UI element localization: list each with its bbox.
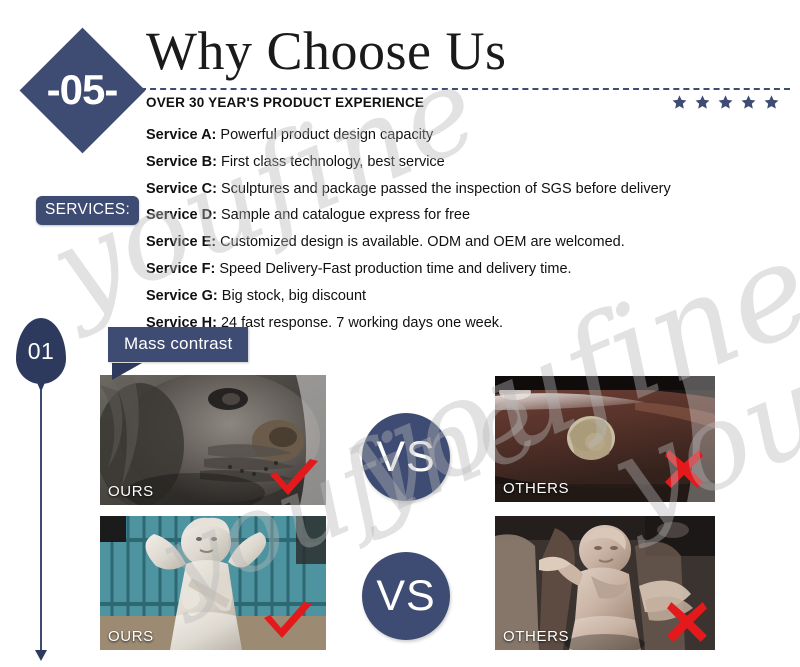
header-divider bbox=[140, 88, 790, 90]
service-item: Service C: Sculptures and package passed… bbox=[146, 176, 786, 203]
service-item: Service A: Powerful product design capac… bbox=[146, 122, 786, 149]
photo-label-others: OTHERS bbox=[503, 480, 569, 497]
page-subtitle: OVER 30 YEAR'S PRODUCT EXPERIENCE bbox=[146, 95, 424, 110]
service-item: Service B: First class technology, best … bbox=[146, 149, 786, 176]
service-text: Sculptures and package passed the inspec… bbox=[221, 181, 671, 197]
star-icon bbox=[717, 94, 734, 111]
star-icon bbox=[740, 94, 757, 111]
comparison-photo-ours: OURS bbox=[100, 516, 326, 650]
check-mark-icon bbox=[260, 602, 316, 646]
vs-badge: VS bbox=[362, 552, 450, 640]
service-text: Customized design is available. ODM and … bbox=[220, 234, 625, 250]
service-key: Service A: bbox=[146, 127, 216, 143]
service-key: Service F: bbox=[146, 261, 215, 277]
services-badge: SERVICES: bbox=[36, 196, 139, 225]
service-key: Service E: bbox=[146, 234, 216, 250]
service-key: Service C: bbox=[146, 181, 217, 197]
photo-label-ours: OURS bbox=[108, 483, 154, 500]
service-text: Powerful product design capacity bbox=[220, 127, 433, 143]
service-item: Service D: Sample and catalogue express … bbox=[146, 202, 786, 229]
service-key: Service G: bbox=[146, 288, 218, 304]
star-icon bbox=[671, 94, 688, 111]
service-text: Sample and catalogue express for free bbox=[221, 207, 470, 223]
service-key: Service D: bbox=[146, 207, 217, 223]
photo-label-ours: OURS bbox=[108, 628, 154, 645]
cross-mark-icon bbox=[665, 600, 709, 644]
comparison-photo-others: OTHERS bbox=[495, 376, 715, 502]
service-item: Service E: Customized design is availabl… bbox=[146, 229, 786, 256]
comparison-photo-others: OTHERS bbox=[495, 516, 715, 650]
service-key: Service B: bbox=[146, 154, 217, 170]
star-icon bbox=[694, 94, 711, 111]
star-rating bbox=[671, 94, 780, 111]
pin-stem bbox=[40, 390, 42, 652]
section-number-label: -05- bbox=[19, 27, 145, 153]
photo-label-others: OTHERS bbox=[503, 628, 569, 645]
speech-bubble-tail bbox=[112, 363, 142, 380]
service-text: Big stock, big discount bbox=[222, 288, 366, 304]
section-number-badge: -05- bbox=[19, 27, 145, 153]
service-text: First class technology, best service bbox=[221, 154, 445, 170]
check-mark-icon bbox=[266, 459, 322, 503]
why-choose-us-page: -05- Why Choose Us OVER 30 YEAR'S PRODUC… bbox=[0, 0, 800, 667]
cross-mark-icon bbox=[663, 448, 705, 490]
service-item: Service G: Big stock, big discount bbox=[146, 283, 786, 310]
pin-arrow-icon bbox=[35, 650, 47, 661]
step-marker-pin: 01 bbox=[12, 318, 70, 663]
vs-badge: VS bbox=[362, 413, 450, 501]
service-text: Speed Delivery-Fast production time and … bbox=[219, 261, 571, 277]
page-title: Why Choose Us bbox=[146, 24, 506, 78]
comparison-photo-ours: OURS bbox=[100, 375, 326, 505]
step-marker-label: 01 bbox=[16, 326, 66, 376]
mass-contrast-header: Mass contrast bbox=[108, 327, 248, 362]
services-list: Service A: Powerful product design capac… bbox=[146, 122, 786, 336]
service-item: Service F: Speed Delivery-Fast productio… bbox=[146, 256, 786, 283]
star-icon bbox=[763, 94, 780, 111]
service-text: 24 fast response. 7 working days one wee… bbox=[221, 315, 503, 331]
